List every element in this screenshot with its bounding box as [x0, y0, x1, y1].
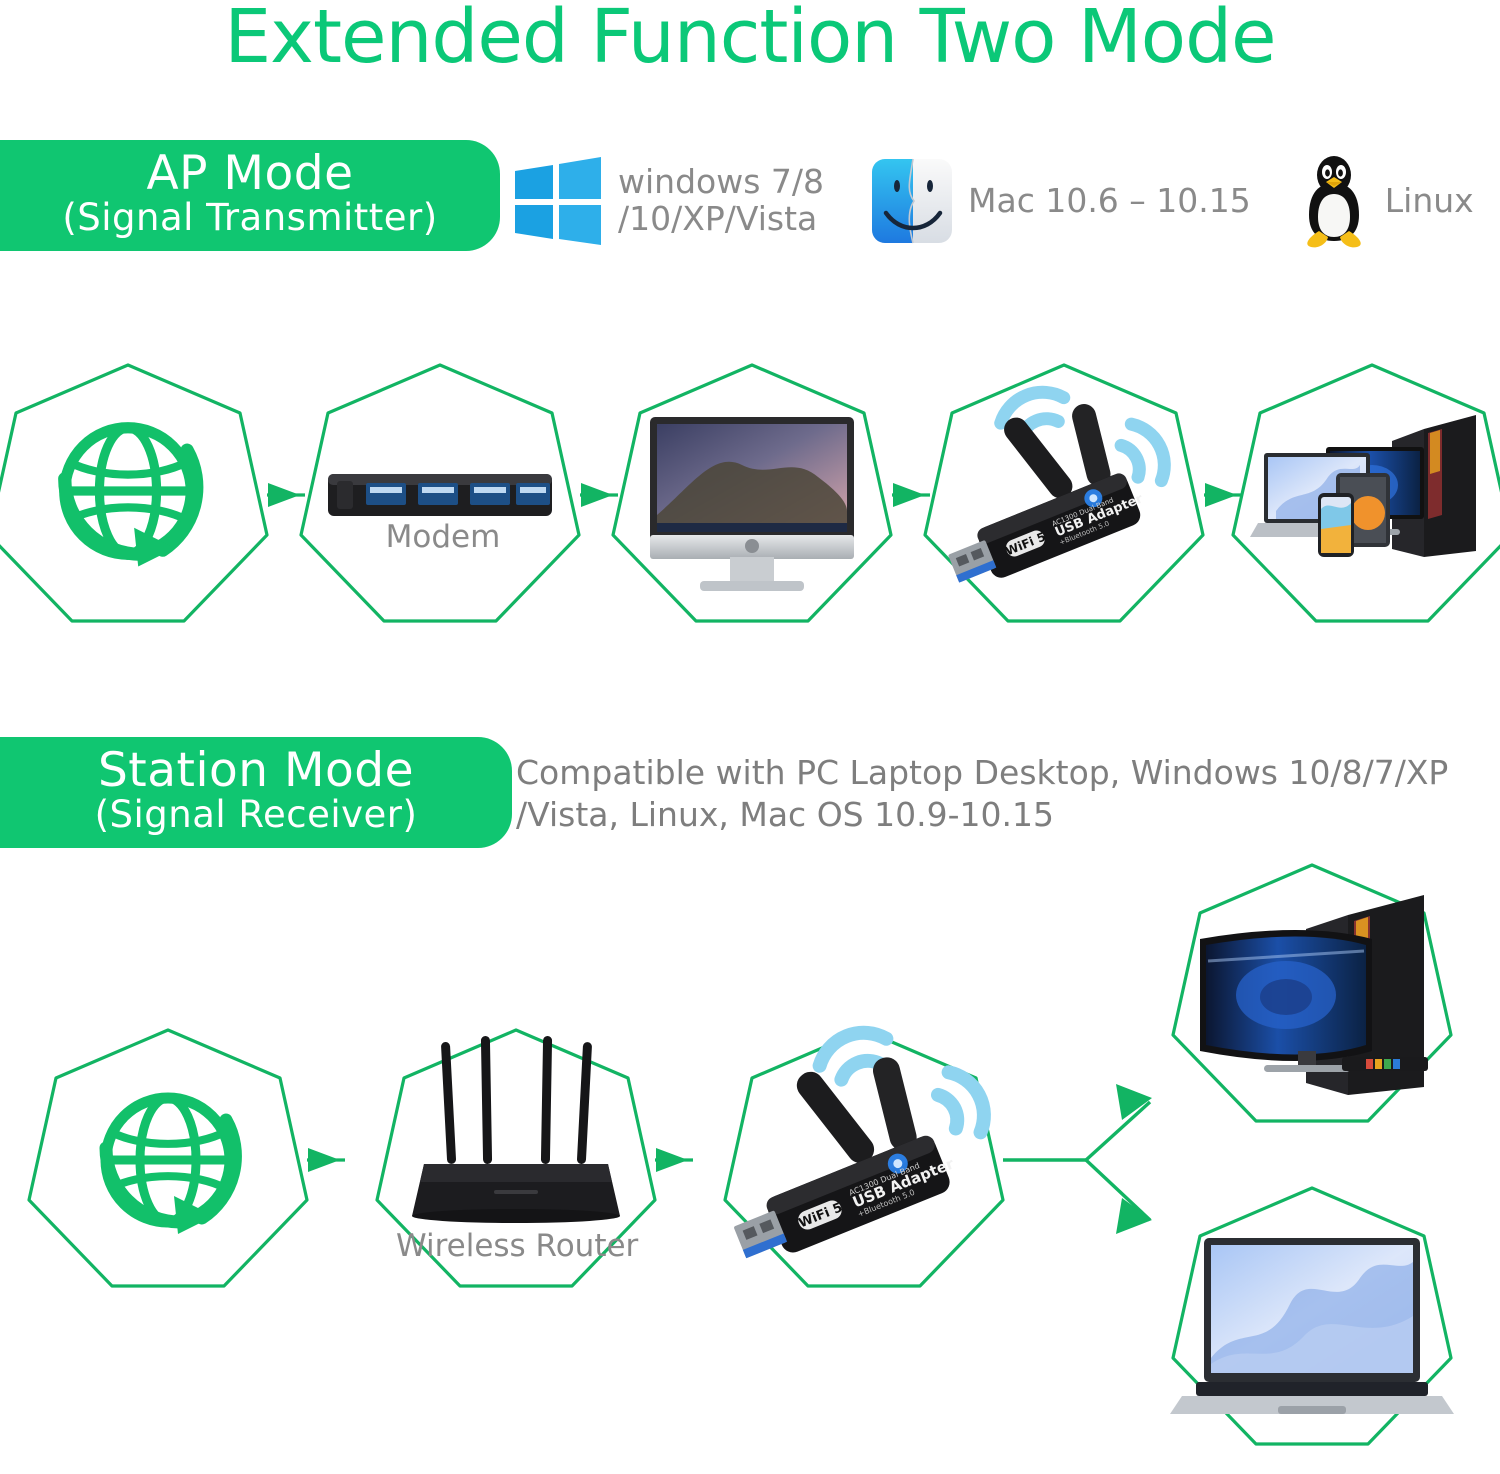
os-item-mac: Mac 10.6 – 10.15 [870, 157, 1251, 245]
node-modem [301, 365, 579, 621]
node-gaming-desktop [1173, 865, 1451, 1121]
connector-arrow-s2 [655, 1148, 693, 1172]
os-support-row: windows 7/8 /10/XP/Vista Ma [512, 146, 1474, 256]
node-internet-station [29, 1030, 307, 1286]
infographic-page: Extended Function Two Mode AP Mode (Sign… [0, 0, 1500, 1474]
connector-arrow-s1 [307, 1148, 345, 1172]
connector-arrow-1 [267, 483, 305, 507]
laptop-icon [1170, 1238, 1454, 1414]
os-label-mac: Mac 10.6 – 10.15 [968, 183, 1251, 220]
wireless-router-icon [412, 1036, 620, 1223]
ap-mode-badge: AP Mode (Signal Transmitter) [0, 140, 500, 251]
node-imac [613, 365, 891, 621]
multi-device-cluster-icon [1250, 415, 1476, 557]
compatibility-text: Compatible with PC Laptop Desktop, Windo… [516, 752, 1456, 836]
globe-internet-icon [65, 428, 197, 567]
label-modem: Modem [348, 519, 538, 555]
os-label-windows: windows 7/8 /10/XP/Vista [618, 164, 824, 238]
node-internet [0, 365, 267, 621]
modem-usb-hub-icon [328, 474, 552, 516]
globe-internet-icon [106, 1098, 235, 1234]
imac-desktop-icon [650, 417, 854, 591]
station-mode-diagram: WiFi 5 AC1300 Dual Band USB Adapter +Blu… [0, 830, 1500, 1474]
station-mode-badge-subtitle: (Signal Receiver) [34, 796, 478, 834]
os-label-linux: Linux [1385, 183, 1474, 220]
usb-wifi-adapter-icon: WiFi 5 AC1300 Dual Band USB Adapter +Blu… [908, 381, 1150, 593]
linux-penguin-icon [1297, 153, 1371, 249]
connector-arrow-4 [1204, 483, 1242, 507]
label-wireless-router: Wireless Router [396, 1228, 636, 1264]
ap-mode-diagram: WiFi 5 AC1300 Dual Band USB Adapter +Blu… [0, 290, 1500, 650]
ap-mode-badge-title: AP Mode [34, 150, 466, 199]
connector-arrow-2 [580, 483, 618, 507]
os-item-linux: Linux [1297, 153, 1474, 249]
wifi-waves-right-icon [931, 1065, 995, 1142]
connector-branch [1003, 1102, 1150, 1220]
node-usb-adapter-ap: WiFi 5 AC1300 Dual Band USB Adapter +Blu… [908, 365, 1203, 621]
station-mode-badge-title: Station Mode [34, 747, 478, 796]
page-title: Extended Function Two Mode [0, 0, 1500, 80]
gaming-desktop-icon [1200, 895, 1428, 1095]
node-usb-adapter-station: WiFi 5 AC1300 Dual Band USB Adapter +Blu… [689, 1023, 1003, 1286]
windows-logo-icon [512, 157, 604, 245]
node-device-cluster [1233, 365, 1500, 621]
ap-mode-badge-subtitle: (Signal Transmitter) [34, 199, 466, 237]
connector-arrow-3 [892, 483, 930, 507]
os-item-windows: windows 7/8 /10/XP/Vista [512, 157, 824, 245]
finder-face-icon [870, 157, 954, 245]
node-laptop [1170, 1188, 1454, 1444]
